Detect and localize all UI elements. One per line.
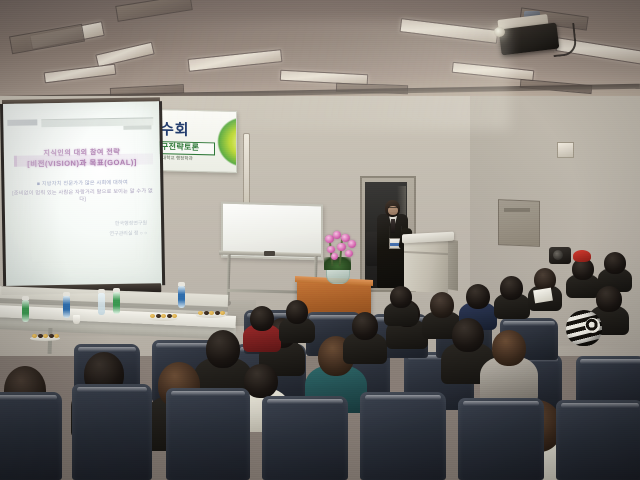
- photograph-canvas: 수회 구전략토론 대학교 행정학과 지식인의 대외 참여 전략 [비전(VISI…: [0, 0, 640, 480]
- seat-front-4-top-highlight: [267, 399, 343, 404]
- seat-front-1[interactable]: [0, 392, 62, 480]
- seat-front-7-back: [556, 400, 640, 480]
- seat-front-1-back: [0, 392, 62, 480]
- seat-front-6-top-highlight: [463, 401, 539, 406]
- seat-front-2-top-highlight: [77, 387, 147, 392]
- seat-front-7-top-highlight: [561, 403, 638, 408]
- held-paper: [533, 288, 553, 304]
- seat-front-5-top-highlight: [365, 395, 441, 400]
- seat-front-3-top-highlight: [171, 391, 245, 396]
- seat-front-4[interactable]: [262, 396, 348, 480]
- seat-front-2[interactable]: [72, 384, 152, 480]
- seat-front-2-back: [72, 384, 152, 480]
- seat-front-3-back: [166, 388, 250, 480]
- seat-front-5[interactable]: [360, 392, 446, 480]
- seat-front-5-back: [360, 392, 446, 480]
- red-cap: [573, 250, 591, 262]
- seat-front-6[interactable]: [458, 398, 544, 480]
- seat-front-1-top-highlight: [0, 395, 57, 400]
- seat-front-7[interactable]: [556, 400, 640, 480]
- beanie-crown-swirl: [585, 318, 600, 333]
- seat-front-4-back: [262, 396, 348, 480]
- camera-lens-icon: [553, 250, 563, 260]
- seat-front-3[interactable]: [166, 388, 250, 480]
- seating-rows-front: [0, 0, 640, 480]
- seat-front-6-back: [458, 398, 544, 480]
